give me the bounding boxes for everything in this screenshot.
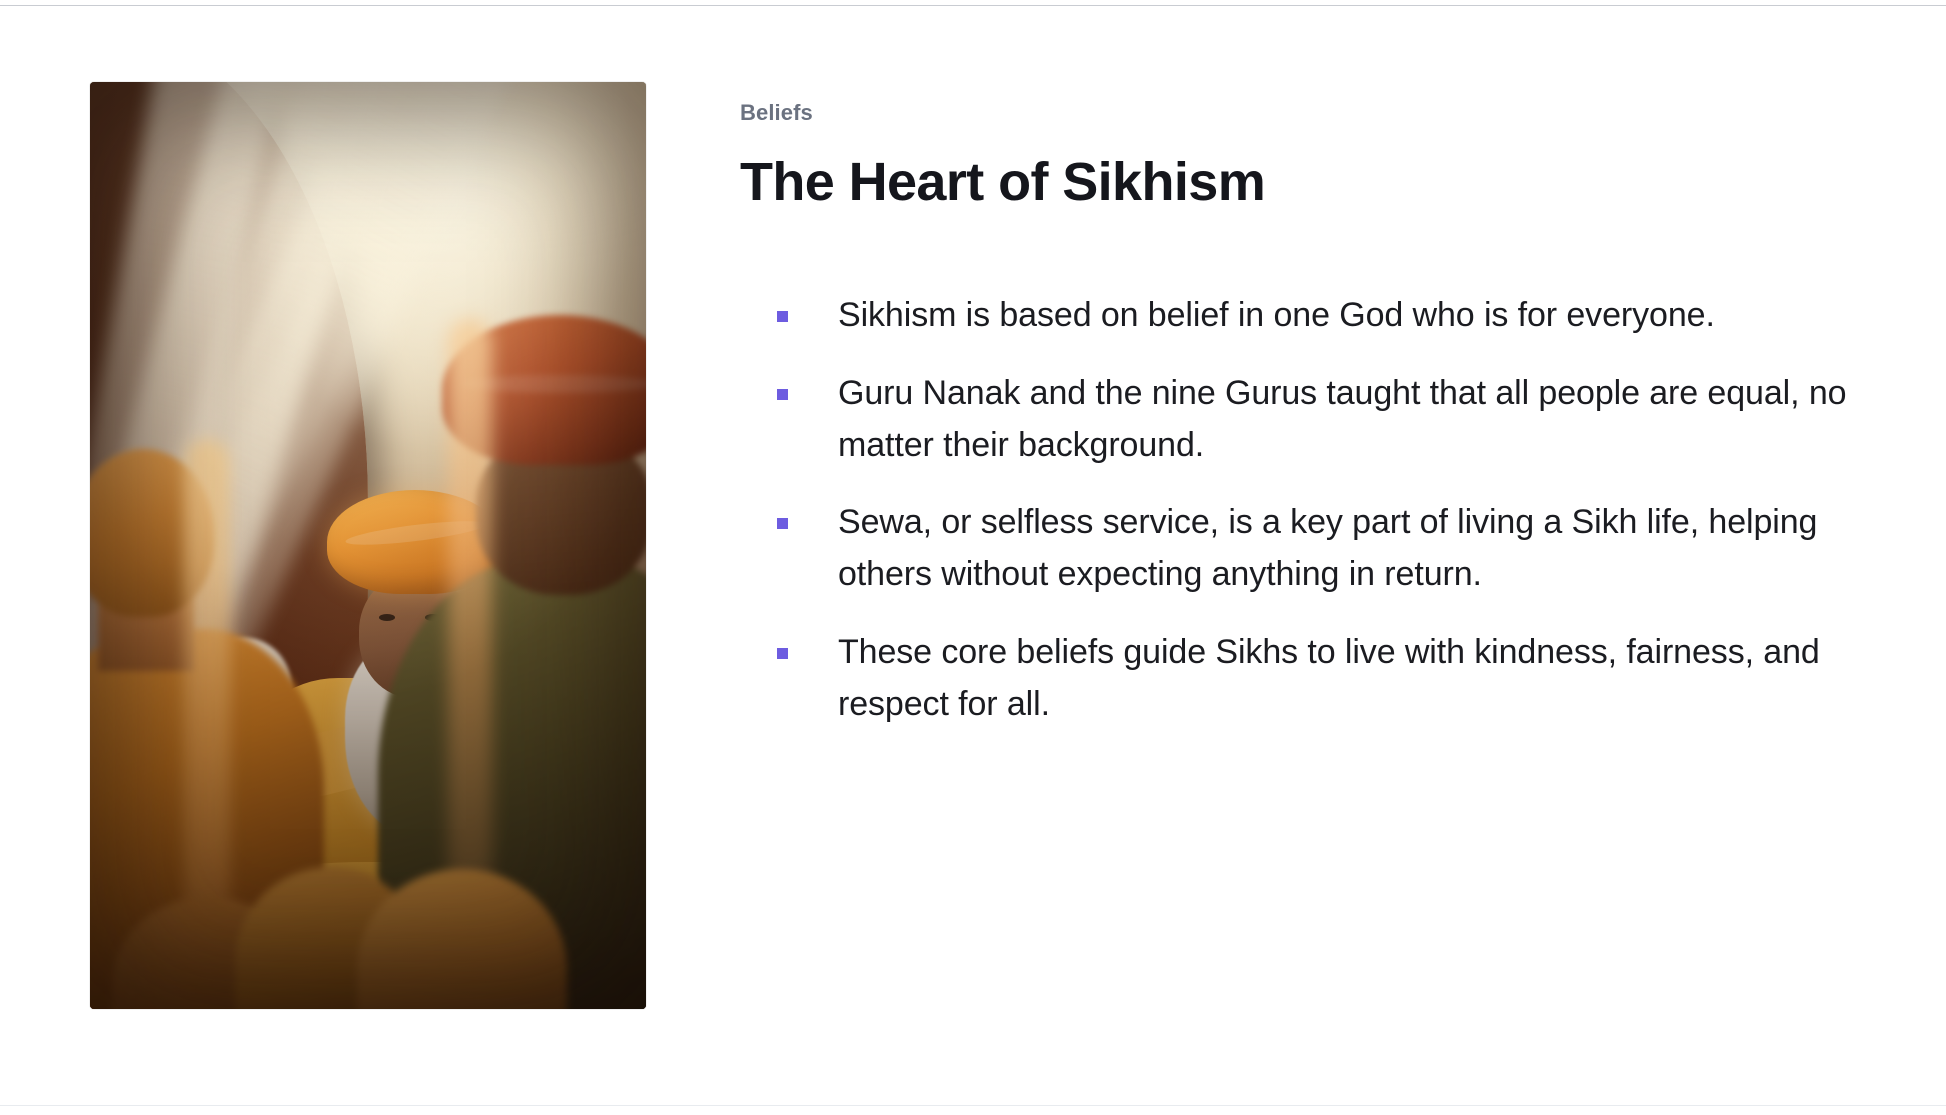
- list-item: Sikhism is based on belief in one God wh…: [740, 290, 1850, 342]
- bullet-square-icon: [777, 518, 788, 529]
- bullet-list: Sikhism is based on belief in one God wh…: [740, 290, 1850, 730]
- list-item: Guru Nanak and the nine Gurus taught tha…: [740, 368, 1850, 471]
- list-item: These core beliefs guide Sikhs to live w…: [740, 627, 1850, 730]
- list-item-text: Sewa, or selfless service, is a key part…: [838, 503, 1817, 593]
- vignette: [90, 82, 646, 1009]
- list-item-text: Guru Nanak and the nine Gurus taught tha…: [838, 374, 1846, 464]
- page-title: The Heart of Sikhism: [740, 152, 1850, 212]
- list-item: Sewa, or selfless service, is a key part…: [740, 497, 1850, 600]
- slide-page: Beliefs The Heart of Sikhism Sikhism is …: [0, 0, 1946, 1115]
- slide-eyebrow: Beliefs: [740, 102, 1850, 124]
- bottom-divider: [0, 1105, 1946, 1106]
- photo-scene: [90, 82, 646, 1009]
- bullet-square-icon: [777, 648, 788, 659]
- bullet-square-icon: [777, 311, 788, 322]
- slide-content: Beliefs The Heart of Sikhism Sikhism is …: [740, 102, 1850, 730]
- slide-image: [90, 82, 646, 1009]
- bullet-square-icon: [777, 389, 788, 400]
- slide-canvas: Beliefs The Heart of Sikhism Sikhism is …: [0, 6, 1946, 1105]
- list-item-text: Sikhism is based on belief in one God wh…: [838, 296, 1715, 334]
- list-item-text: These core beliefs guide Sikhs to live w…: [838, 633, 1820, 723]
